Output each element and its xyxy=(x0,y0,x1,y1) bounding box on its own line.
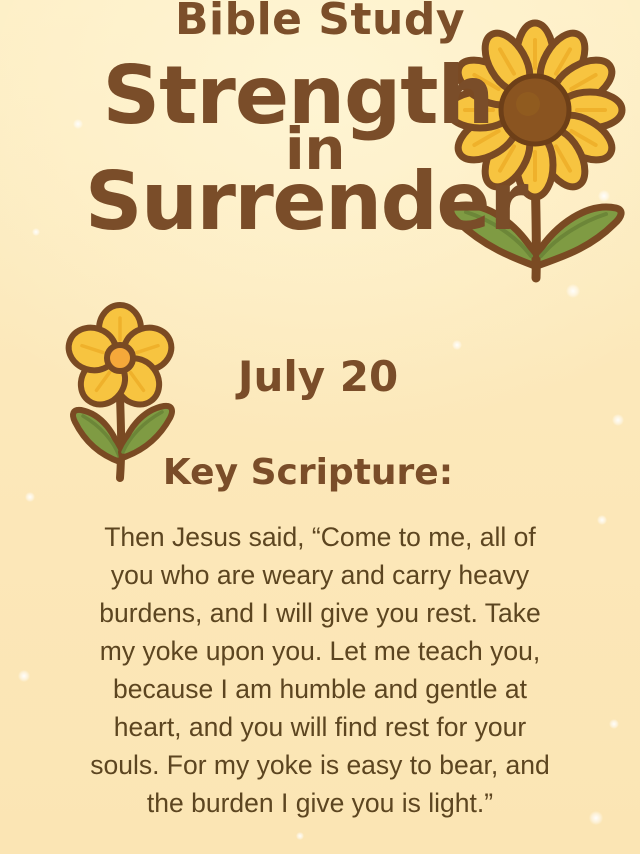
sparkle-dot xyxy=(609,719,619,729)
scripture-line: my yoke upon you. Let me teach you, xyxy=(56,632,584,670)
sparkle-dot xyxy=(18,670,30,682)
scripture-line: burdens, and I will give you rest. Take xyxy=(56,594,584,632)
sparkle-dot xyxy=(452,340,462,350)
scripture-body: Then Jesus said, “Come to me, all ofyou … xyxy=(56,518,584,822)
scripture-line: Then Jesus said, “Come to me, all of xyxy=(56,518,584,556)
sparkle-dot xyxy=(597,515,607,525)
scripture-line: because I am humble and gentle at xyxy=(56,670,584,708)
scripture-line: the burden I give you is light.” xyxy=(56,784,584,822)
sparkle-dot xyxy=(25,492,35,502)
sparkle-dot xyxy=(589,811,603,825)
scripture-line: souls. For my yoke is easy to bear, and xyxy=(56,746,584,784)
sparkle-dot xyxy=(296,832,304,840)
sparkle-dot xyxy=(612,414,624,426)
main-title-line-3: Surrender xyxy=(0,168,626,235)
scripture-line: you who are weary and carry heavy xyxy=(56,556,584,594)
bible-study-poster: Bible Study Strength in Surrender July 2… xyxy=(0,0,640,854)
daisy-flower-icon xyxy=(58,310,208,490)
main-title: Strength in Surrender xyxy=(0,62,640,235)
scripture-line: heart, and you will find rest for your xyxy=(56,708,584,746)
